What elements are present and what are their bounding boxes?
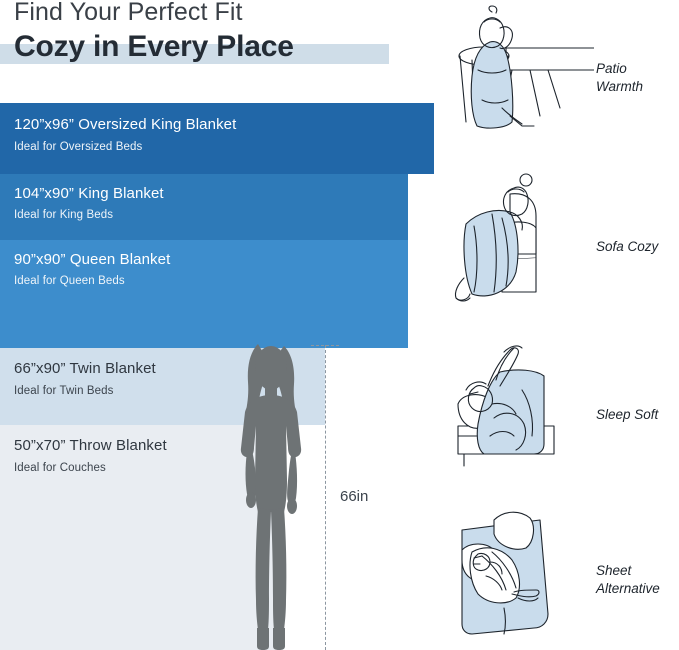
scene-label: Sofa Cozy (596, 238, 679, 256)
size-band-subtitle: Ideal for Oversized Beds (14, 141, 142, 153)
page-title: Cozy in Every Place (14, 30, 294, 64)
measure-label: 66in (340, 488, 368, 505)
size-band-title: 104”x90” King Blanket (14, 185, 164, 202)
sofa-cozy-icon (444, 168, 594, 323)
size-band-subtitle: Ideal for King Beds (14, 209, 113, 221)
size-band-title: 90”x90” Queen Blanket (14, 251, 170, 268)
header: Find Your Perfect Fit Cozy in Every Plac… (0, 0, 440, 96)
size-band-title: 50”x70” Throw Blanket (14, 437, 167, 454)
scene-label-line2: Alternative (596, 581, 660, 596)
person-silhouette-icon (228, 340, 320, 650)
size-band-subtitle: Ideal for Couches (14, 462, 106, 474)
scene-sheet-alternative[interactable]: Sheet Alternative (440, 498, 679, 648)
scene-label: Sheet Alternative (596, 562, 679, 597)
scene-label-line2: Warmth (596, 79, 643, 94)
eyebrow-text: Find Your Perfect Fit (14, 0, 243, 27)
scene-label: Patio Warmth (596, 60, 679, 95)
size-chart: 120”x96” Oversized King Blanket Ideal fo… (0, 103, 434, 650)
patio-warmth-icon (444, 4, 594, 159)
size-band-subtitle: Ideal for Twin Beds (14, 385, 114, 397)
size-band-queen[interactable]: 90”x90” Queen Blanket Ideal for Queen Be… (0, 240, 408, 348)
scene-patio-warmth[interactable]: Patio Warmth (440, 4, 679, 164)
blanket-size-infographic: Find Your Perfect Fit Cozy in Every Plac… (0, 0, 679, 650)
size-band-subtitle: Ideal for Queen Beds (14, 275, 125, 287)
scene-label-line1: Patio (596, 61, 627, 76)
scene-column: Patio Warmth (440, 0, 679, 650)
sleep-soft-icon (444, 332, 594, 487)
measure-dashed-line (325, 345, 326, 650)
size-band-title: 120”x96” Oversized King Blanket (14, 116, 236, 133)
scene-label-line1: Sheet (596, 563, 631, 578)
size-band-oversized-king[interactable]: 120”x96” Oversized King Blanket Ideal fo… (0, 103, 434, 174)
size-band-title: 66”x90” Twin Blanket (14, 360, 156, 377)
scene-label: Sleep Soft (596, 406, 679, 424)
sheet-alternative-icon (444, 498, 594, 650)
scene-label-line1: Sofa Cozy (596, 239, 658, 254)
scene-sleep-soft[interactable]: Sleep Soft (440, 332, 679, 492)
scene-sofa-cozy[interactable]: Sofa Cozy (440, 168, 679, 323)
size-band-king[interactable]: 104”x90” King Blanket Ideal for King Bed… (0, 174, 408, 240)
scene-label-line1: Sleep Soft (596, 407, 658, 422)
